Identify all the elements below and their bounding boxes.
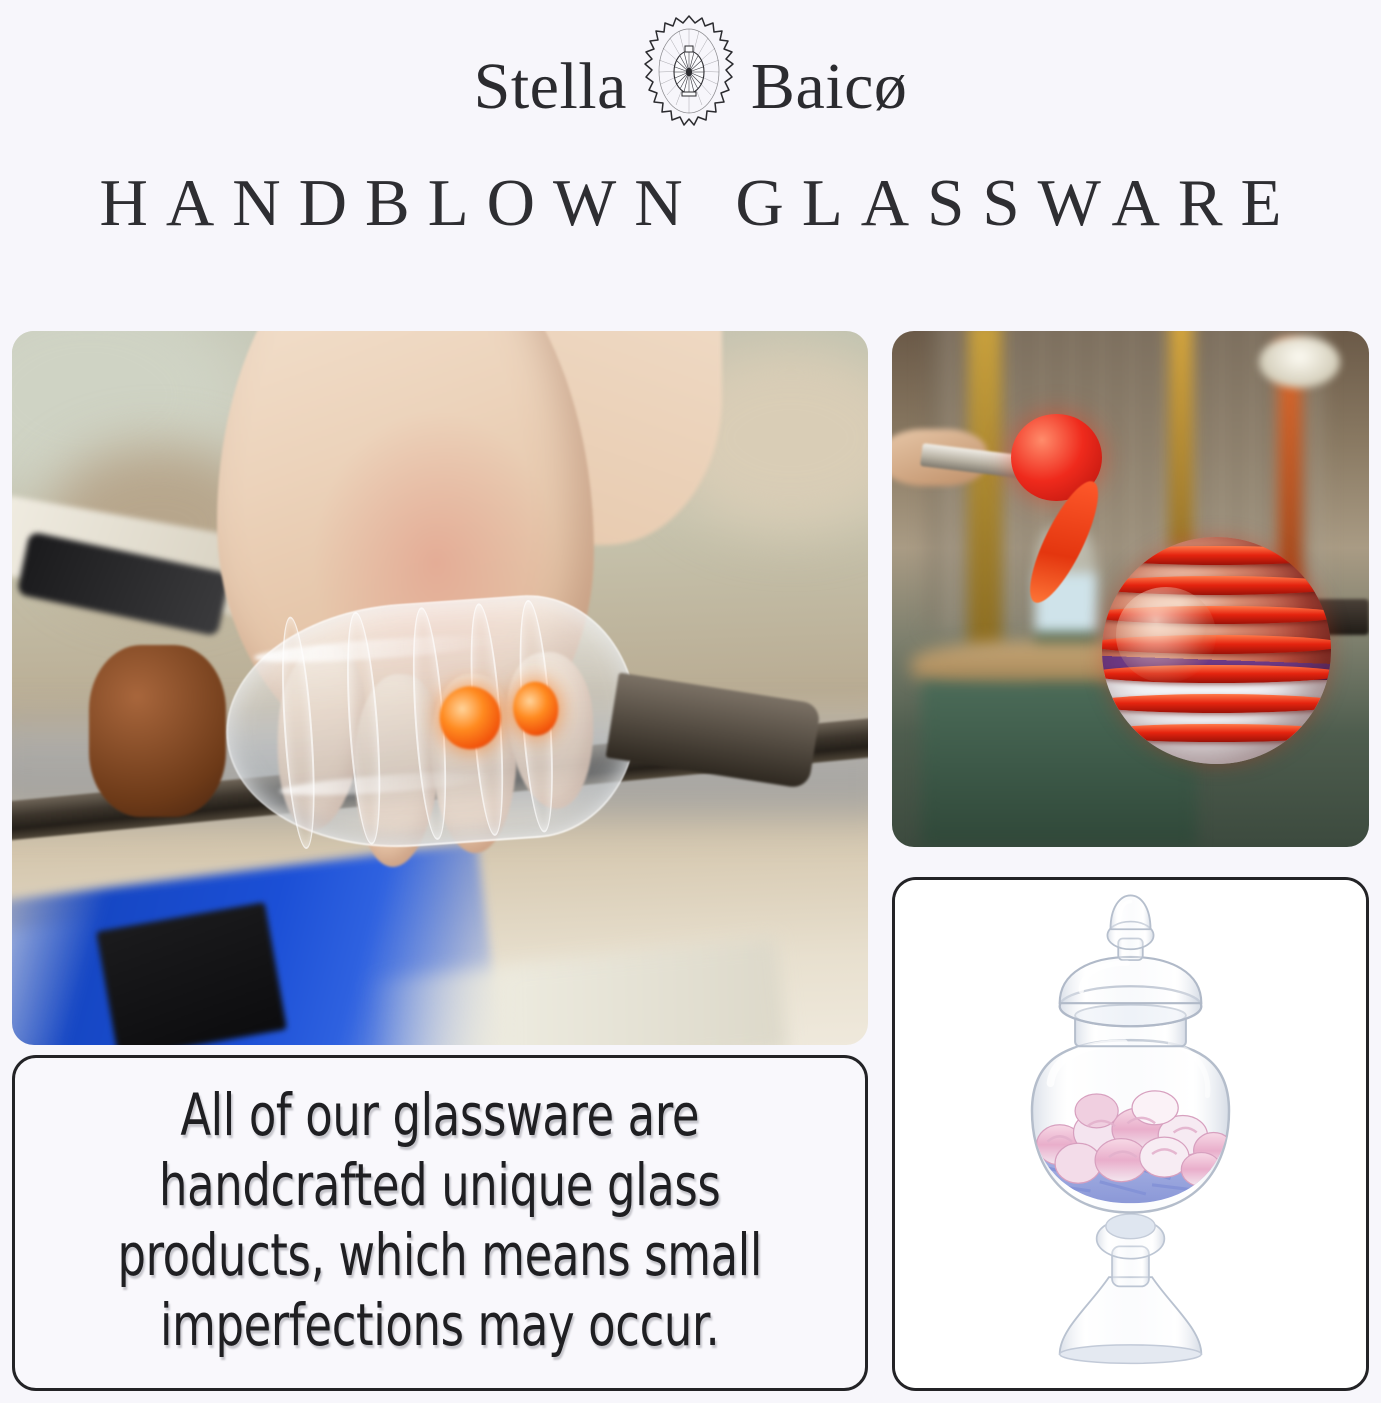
content-layout: All of our glassware are handcrafted uni… <box>12 331 1369 1391</box>
oval-sunburst-medallion-icon <box>637 12 741 162</box>
glassblower-shaping-vessel-photo <box>12 331 868 1045</box>
disclaimer-box: All of our glassware are handcrafted uni… <box>12 1055 868 1391</box>
apothecary-candy-jar-photo <box>892 877 1369 1391</box>
page-title: HANDBLOWN GLASSWARE <box>0 168 1381 237</box>
disclaimer-text: All of our glassware are handcrafted uni… <box>118 1080 763 1361</box>
left-column: All of our glassware are handcrafted uni… <box>12 331 868 1391</box>
brand-name-left: Stella <box>474 54 627 120</box>
brand-header: Stella <box>0 0 1381 168</box>
molten-red-glass-coil-photo <box>892 331 1369 847</box>
brand-name-right: Baicø <box>751 54 907 120</box>
right-column <box>892 331 1369 1391</box>
